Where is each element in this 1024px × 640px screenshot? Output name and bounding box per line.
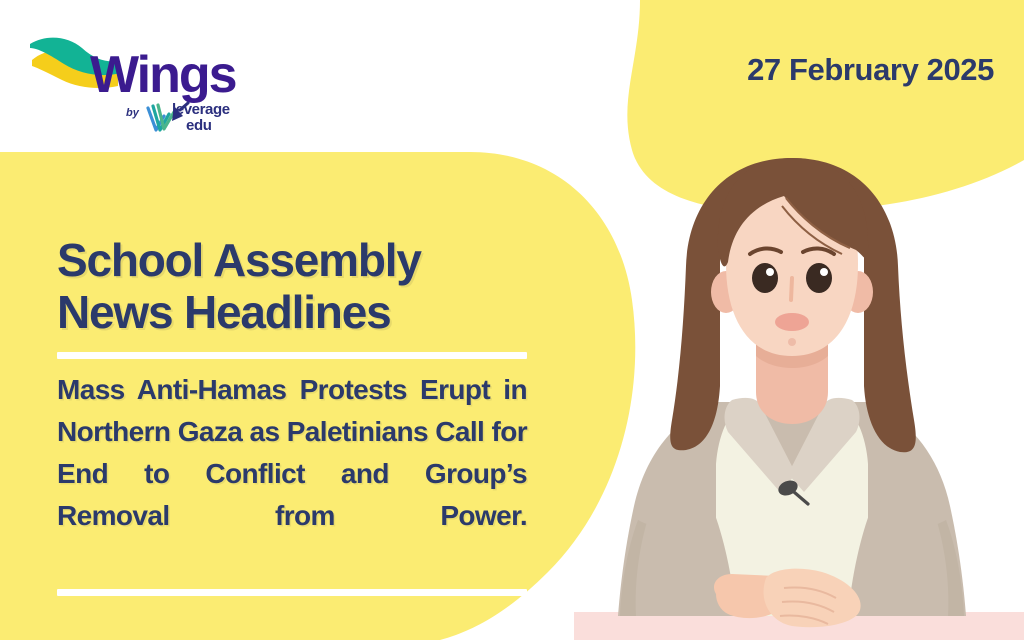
parent-brand-line1: leverage [172, 101, 230, 118]
eye-highlight-right [820, 268, 828, 276]
news-headline-poster: Wings by leverage edu 27 February 2025 S… [0, 0, 1024, 640]
headline-body: Mass Anti-Hamas Protests Erupt in Northe… [57, 369, 527, 579]
headline-block: School Assembly News Headlines Mass Anti… [57, 234, 527, 596]
page-title-line-1: School Assembly [57, 234, 421, 286]
publication-date: 27 February 2025 [747, 52, 994, 88]
parent-brand-line2: edu [186, 117, 212, 134]
eye-highlight-left [766, 268, 774, 276]
nose [791, 278, 792, 300]
eye-right [806, 263, 832, 293]
logo-svg: Wings by leverage edu [22, 18, 272, 138]
page-title: School Assembly News Headlines [57, 234, 527, 338]
chin-dimple [788, 338, 796, 346]
brand-logo[interactable]: Wings by leverage edu [22, 18, 272, 138]
divider-bottom [57, 589, 527, 596]
brand-wordmark: Wings [90, 46, 236, 104]
page-title-line-2: News Headlines [57, 286, 527, 338]
eye-left [752, 263, 778, 293]
divider-top [57, 352, 527, 359]
brand-by-label: by [126, 107, 140, 119]
mouth [775, 313, 809, 331]
news-anchor-illustration [560, 0, 1024, 640]
